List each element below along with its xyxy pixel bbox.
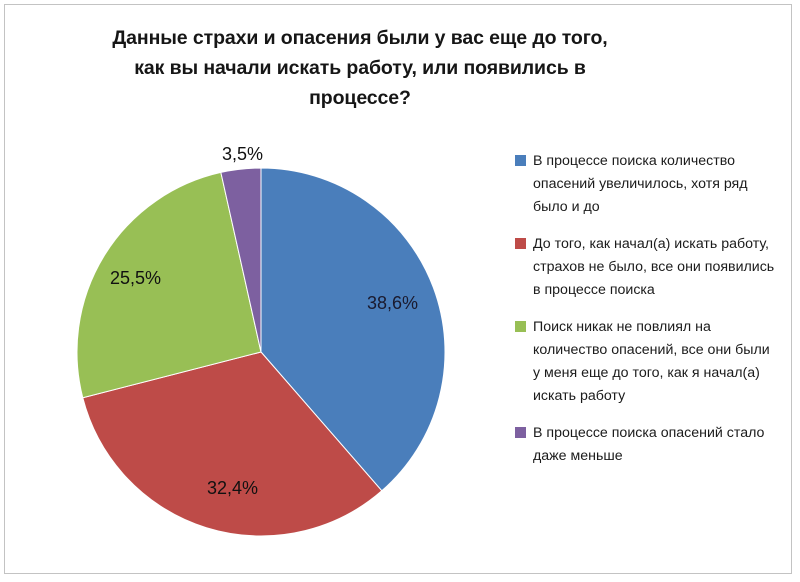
- chart-title: Данные страхи и опасения были у вас еще …: [45, 23, 675, 113]
- chart-legend: В процессе поиска количество опасений ув…: [515, 150, 780, 482]
- legend-swatch-icon-1: [515, 238, 526, 249]
- chart-frame: Данные страхи и опасения были у вас еще …: [4, 4, 792, 574]
- pie-plot-area: 38,6% 32,4% 25,5% 3,5%: [65, 130, 465, 555]
- legend-swatch-icon-3: [515, 427, 526, 438]
- legend-swatch-icon-2: [515, 321, 526, 332]
- pie-slices-group: [77, 168, 445, 536]
- slice-label-3: 3,5%: [222, 144, 263, 165]
- chart-title-line-2: как вы начали искать работу, или появили…: [45, 53, 675, 83]
- legend-item-3[interactable]: В процессе поиска опасений стало даже ме…: [515, 422, 780, 468]
- legend-label-0: В процессе поиска количество опасений ув…: [533, 150, 780, 219]
- chart-title-line-1: Данные страхи и опасения были у вас еще …: [45, 23, 675, 53]
- legend-item-2[interactable]: Поиск никак не повлиял на количество опа…: [515, 316, 780, 408]
- legend-item-1[interactable]: До того, как начал(а) искать работу, стр…: [515, 233, 780, 302]
- slice-label-0: 38,6%: [367, 293, 418, 314]
- legend-swatch-icon-0: [515, 155, 526, 166]
- pie-chart-svg: [65, 130, 465, 555]
- slice-label-2: 25,5%: [110, 268, 161, 289]
- slice-label-1: 32,4%: [207, 478, 258, 499]
- legend-label-2: Поиск никак не повлиял на количество опа…: [533, 316, 780, 408]
- chart-title-line-3: процессе?: [45, 83, 675, 113]
- legend-label-3: В процессе поиска опасений стало даже ме…: [533, 422, 780, 468]
- legend-item-0[interactable]: В процессе поиска количество опасений ув…: [515, 150, 780, 219]
- legend-label-1: До того, как начал(а) искать работу, стр…: [533, 233, 780, 302]
